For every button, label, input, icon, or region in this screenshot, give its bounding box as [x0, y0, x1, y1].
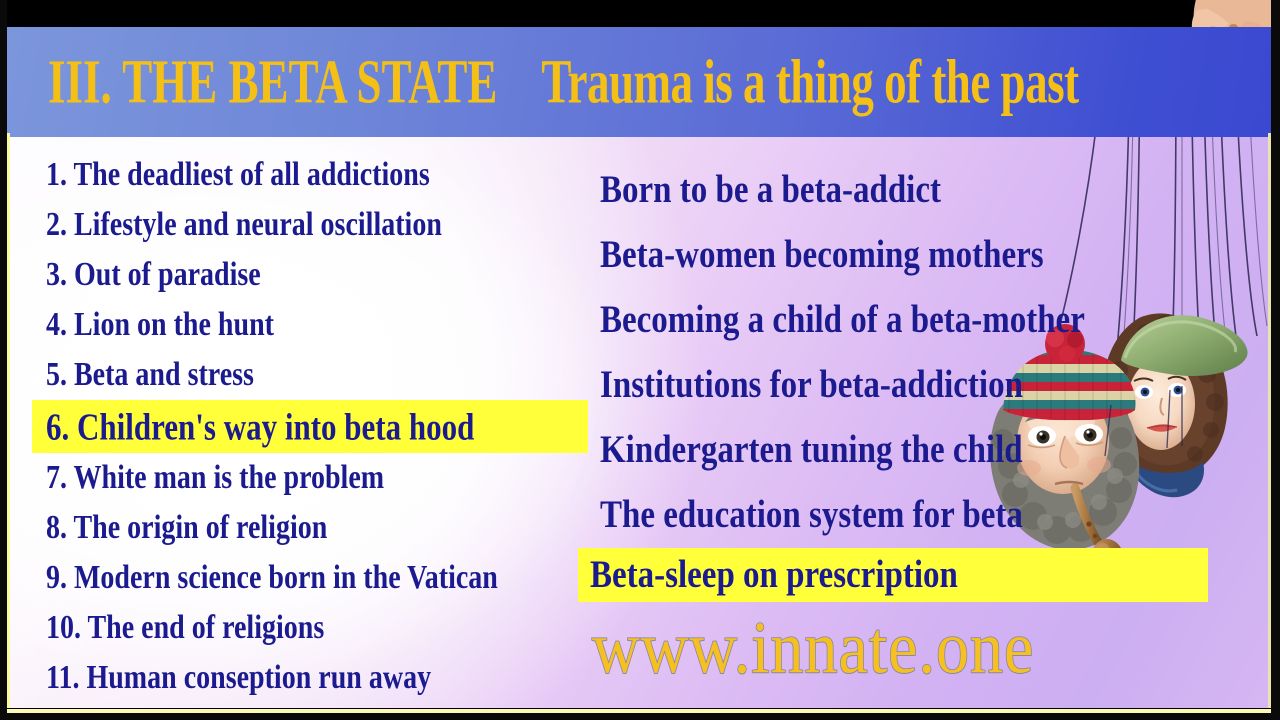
- left-chapter-list: 1. The deadliest of all addictions 2. Li…: [40, 150, 585, 703]
- list-item[interactable]: 8. The origin of religion: [40, 503, 585, 553]
- list-item-label: Kindergarten tuning the child: [600, 431, 1023, 471]
- list-item[interactable]: Institutions for beta-addiction: [590, 353, 1210, 418]
- list-item[interactable]: 2. Lifestyle and neural oscillation: [40, 200, 585, 250]
- list-item[interactable]: 9. Modern science born in the Vatican: [40, 553, 585, 603]
- list-item[interactable]: 10. The end of religions: [40, 603, 585, 653]
- list-item-label: 7. White man is the problem: [46, 461, 384, 495]
- list-item-label: Beta-sleep on prescription: [590, 555, 958, 595]
- frame-rule-left: [7, 133, 10, 708]
- slide-canvas: III. THE BETA STATE Trauma is a thing of…: [0, 0, 1280, 720]
- page-subtitle: Trauma is a thing of the past: [541, 51, 1078, 113]
- slide-header: III. THE BETA STATE Trauma is a thing of…: [7, 27, 1271, 137]
- frame-border-right: [1271, 0, 1280, 720]
- list-item-label: Becoming a child of a beta-mother: [600, 301, 1085, 341]
- frame-border-left: [0, 0, 7, 720]
- list-item-label: Born to be a beta-addict: [600, 171, 941, 211]
- list-item[interactable]: 3. Out of paradise: [40, 250, 585, 300]
- list-item-label: 3. Out of paradise: [46, 258, 261, 292]
- list-item-label: 5. Beta and stress: [46, 358, 254, 392]
- list-item[interactable]: Born to be a beta-addict: [590, 158, 1210, 223]
- frame-border-bottom: [0, 713, 1280, 720]
- list-item-label: 11. Human conseption run away: [46, 661, 431, 695]
- website-url[interactable]: www.innate.one: [592, 612, 1034, 686]
- list-item[interactable]: 5. Beta and stress: [40, 350, 585, 400]
- list-item-label: 10. The end of religions: [46, 611, 324, 645]
- list-item-label: 1. The deadliest of all addictions: [46, 158, 430, 192]
- list-item[interactable]: 11. Human conseption run away: [40, 653, 585, 703]
- list-item[interactable]: 7. White man is the problem: [40, 453, 585, 503]
- list-item[interactable]: 1. The deadliest of all addictions: [40, 150, 585, 200]
- list-item-label: 2. Lifestyle and neural oscillation: [46, 208, 442, 242]
- list-item-selected[interactable]: Beta-sleep on prescription: [578, 548, 1208, 602]
- list-item-label: Institutions for beta-addiction: [600, 366, 1023, 406]
- page-title: III. THE BETA STATE: [48, 51, 497, 113]
- list-item-label: The education system for beta: [600, 496, 1023, 536]
- list-item[interactable]: Beta-women becoming mothers: [590, 223, 1210, 288]
- list-item[interactable]: The education system for beta: [590, 483, 1210, 548]
- list-item-selected[interactable]: 6. Children's way into beta hood: [32, 400, 588, 453]
- list-item-label: 9. Modern science born in the Vatican: [46, 561, 498, 595]
- list-item[interactable]: Becoming a child of a beta-mother: [590, 288, 1210, 353]
- list-item[interactable]: Kindergarten tuning the child: [590, 418, 1210, 483]
- list-item[interactable]: 4. Lion on the hunt: [40, 300, 585, 350]
- list-item-label: 6. Children's way into beta hood: [46, 408, 474, 446]
- list-item-label: Beta-women becoming mothers: [600, 236, 1044, 276]
- list-item-label: 4. Lion on the hunt: [46, 308, 274, 342]
- list-item-label: 8. The origin of religion: [46, 511, 327, 545]
- right-topic-list: Born to be a beta-addict Beta-women beco…: [590, 158, 1210, 602]
